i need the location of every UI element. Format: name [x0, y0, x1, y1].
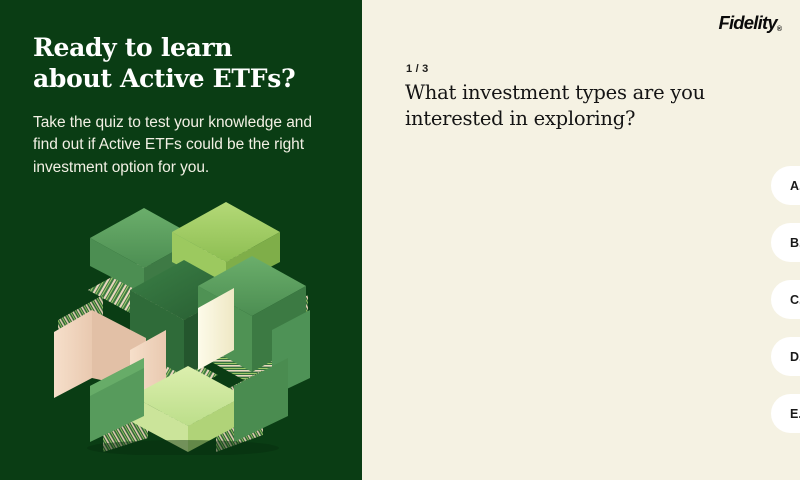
option-letter-b: B. — [790, 236, 800, 250]
option-letter-a: A. — [790, 179, 800, 193]
fidelity-logo: Fidelity® — [718, 14, 782, 33]
page-title: Ready to learn about Active ETFs? — [33, 33, 333, 94]
headline-line-2: about Active ETFs? — [33, 64, 333, 95]
option-letter-d: D. — [790, 350, 800, 364]
quiz-option-d[interactable]: D. Mutual Funds — [771, 337, 800, 376]
quiz-option-b[interactable]: B. Bonds — [771, 223, 800, 262]
quiz-option-a[interactable]: A. Stocks — [771, 166, 800, 205]
quiz-question-text: What investment types are you interested… — [405, 80, 745, 131]
isometric-cubes-illustration — [48, 190, 318, 455]
left-intro-panel: Ready to learn about Active ETFs? Take t… — [0, 0, 362, 480]
trademark-icon: ® — [777, 26, 782, 33]
quiz-option-e[interactable]: E. All of the above — [771, 394, 800, 433]
option-letter-e: E. — [790, 407, 800, 421]
quiz-options-list: A. Stocks B. Bonds C. Exchange Traded Fu… — [771, 166, 800, 433]
option-letter-c: C. — [790, 293, 800, 307]
headline-line-1: Ready to learn — [33, 33, 333, 64]
quiz-option-c[interactable]: C. Exchange Traded Funds (also known as … — [771, 280, 800, 319]
quiz-promo-canvas: Ready to learn about Active ETFs? Take t… — [0, 0, 800, 480]
quiz-panel: Fidelity® 1 / 3 What investment types ar… — [362, 0, 800, 480]
quiz-progress-indicator: 1 / 3 — [406, 63, 428, 75]
intro-description: Take the quiz to test your knowledge and… — [33, 112, 328, 179]
fidelity-wordmark: Fidelity — [718, 12, 776, 33]
